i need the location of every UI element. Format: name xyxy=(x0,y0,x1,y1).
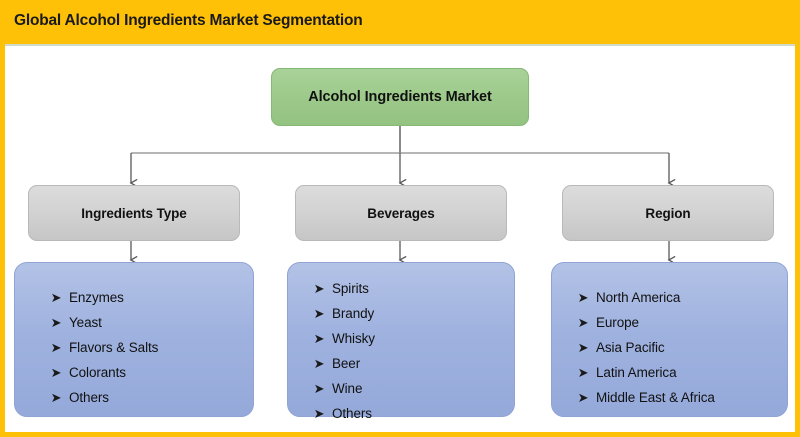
arrow-bullet-icon: ➤ xyxy=(43,317,69,330)
list-item: ➤North America xyxy=(570,291,787,305)
list-item-label: Brandy xyxy=(332,307,374,321)
list-items: ➤Enzymes➤Yeast➤Flavors & Salts➤Colorants… xyxy=(15,273,253,405)
list-item: ➤Whisky xyxy=(306,332,514,346)
list-item-label: Others xyxy=(69,391,109,405)
arrow-bullet-icon: ➤ xyxy=(306,333,332,346)
list-item: ➤Brandy xyxy=(306,307,514,321)
list-item: ➤Spirits xyxy=(306,282,514,296)
list-item: ➤Wine xyxy=(306,382,514,396)
arrow-bullet-icon: ➤ xyxy=(570,342,596,355)
list-item: ➤Asia Pacific xyxy=(570,341,787,355)
node-category-beverages[interactable]: Beverages xyxy=(295,185,507,241)
arrow-bullet-icon: ➤ xyxy=(43,292,69,305)
list-items: ➤North America➤Europe➤Asia Pacific➤Latin… xyxy=(552,273,787,405)
node-category-label: Ingredients Type xyxy=(81,206,186,221)
arrow-bullet-icon: ➤ xyxy=(306,308,332,321)
list-item-label: Colorants xyxy=(69,366,126,380)
arrow-bullet-icon: ➤ xyxy=(570,317,596,330)
list-item-label: Latin America xyxy=(596,366,677,380)
list-item-label: Beer xyxy=(332,357,360,371)
list-item: ➤Colorants xyxy=(43,366,253,380)
list-item: ➤Latin America xyxy=(570,366,787,380)
list-items: ➤Spirits➤Brandy➤Whisky➤Beer➤Wine➤Others xyxy=(288,273,514,421)
page-title: Global Alcohol Ingredients Market Segmen… xyxy=(14,12,363,30)
list-item: ➤Others xyxy=(306,407,514,421)
list-item-label: North America xyxy=(596,291,680,305)
list-item-label: Flavors & Salts xyxy=(69,341,158,355)
list-item-label: Asia Pacific xyxy=(596,341,665,355)
list-item: ➤Beer xyxy=(306,357,514,371)
title-bar: Global Alcohol Ingredients Market Segmen… xyxy=(0,0,800,44)
node-category-label: Region xyxy=(645,206,690,221)
node-list-region[interactable]: ➤North America➤Europe➤Asia Pacific➤Latin… xyxy=(551,262,788,417)
arrow-bullet-icon: ➤ xyxy=(43,342,69,355)
node-list-ingredients-type[interactable]: ➤Enzymes➤Yeast➤Flavors & Salts➤Colorants… xyxy=(14,262,254,417)
arrow-bullet-icon: ➤ xyxy=(306,283,332,296)
node-category-region[interactable]: Region xyxy=(562,185,774,241)
frame-right-border xyxy=(795,44,800,437)
list-item-label: Whisky xyxy=(332,332,375,346)
list-item-label: Middle East & Africa xyxy=(596,391,715,405)
list-item: ➤Enzymes xyxy=(43,291,253,305)
arrow-bullet-icon: ➤ xyxy=(43,392,69,405)
list-item: ➤Others xyxy=(43,391,253,405)
list-item-label: Wine xyxy=(332,382,362,396)
list-item: ➤Europe xyxy=(570,316,787,330)
node-root[interactable]: Alcohol Ingredients Market xyxy=(271,68,529,126)
list-item-label: Spirits xyxy=(332,282,369,296)
node-list-beverages[interactable]: ➤Spirits➤Brandy➤Whisky➤Beer➤Wine➤Others xyxy=(287,262,515,417)
list-item: ➤Middle East & Africa xyxy=(570,391,787,405)
arrow-bullet-icon: ➤ xyxy=(306,358,332,371)
list-item: ➤Flavors & Salts xyxy=(43,341,253,355)
arrow-bullet-icon: ➤ xyxy=(570,367,596,380)
segmentation-diagram-page: Global Alcohol Ingredients Market Segmen… xyxy=(0,0,800,437)
node-category-ingredients-type[interactable]: Ingredients Type xyxy=(28,185,240,241)
arrow-bullet-icon: ➤ xyxy=(306,408,332,421)
list-item-label: Europe xyxy=(596,316,639,330)
arrow-bullet-icon: ➤ xyxy=(306,383,332,396)
arrow-bullet-icon: ➤ xyxy=(43,367,69,380)
list-item-label: Yeast xyxy=(69,316,102,330)
arrow-bullet-icon: ➤ xyxy=(570,292,596,305)
node-category-label: Beverages xyxy=(367,206,434,221)
frame-bottom-border xyxy=(0,432,800,437)
arrow-bullet-icon: ➤ xyxy=(570,392,596,405)
list-item: ➤Yeast xyxy=(43,316,253,330)
list-item-label: Enzymes xyxy=(69,291,124,305)
list-item-label: Others xyxy=(332,407,372,421)
node-root-label: Alcohol Ingredients Market xyxy=(308,89,492,105)
